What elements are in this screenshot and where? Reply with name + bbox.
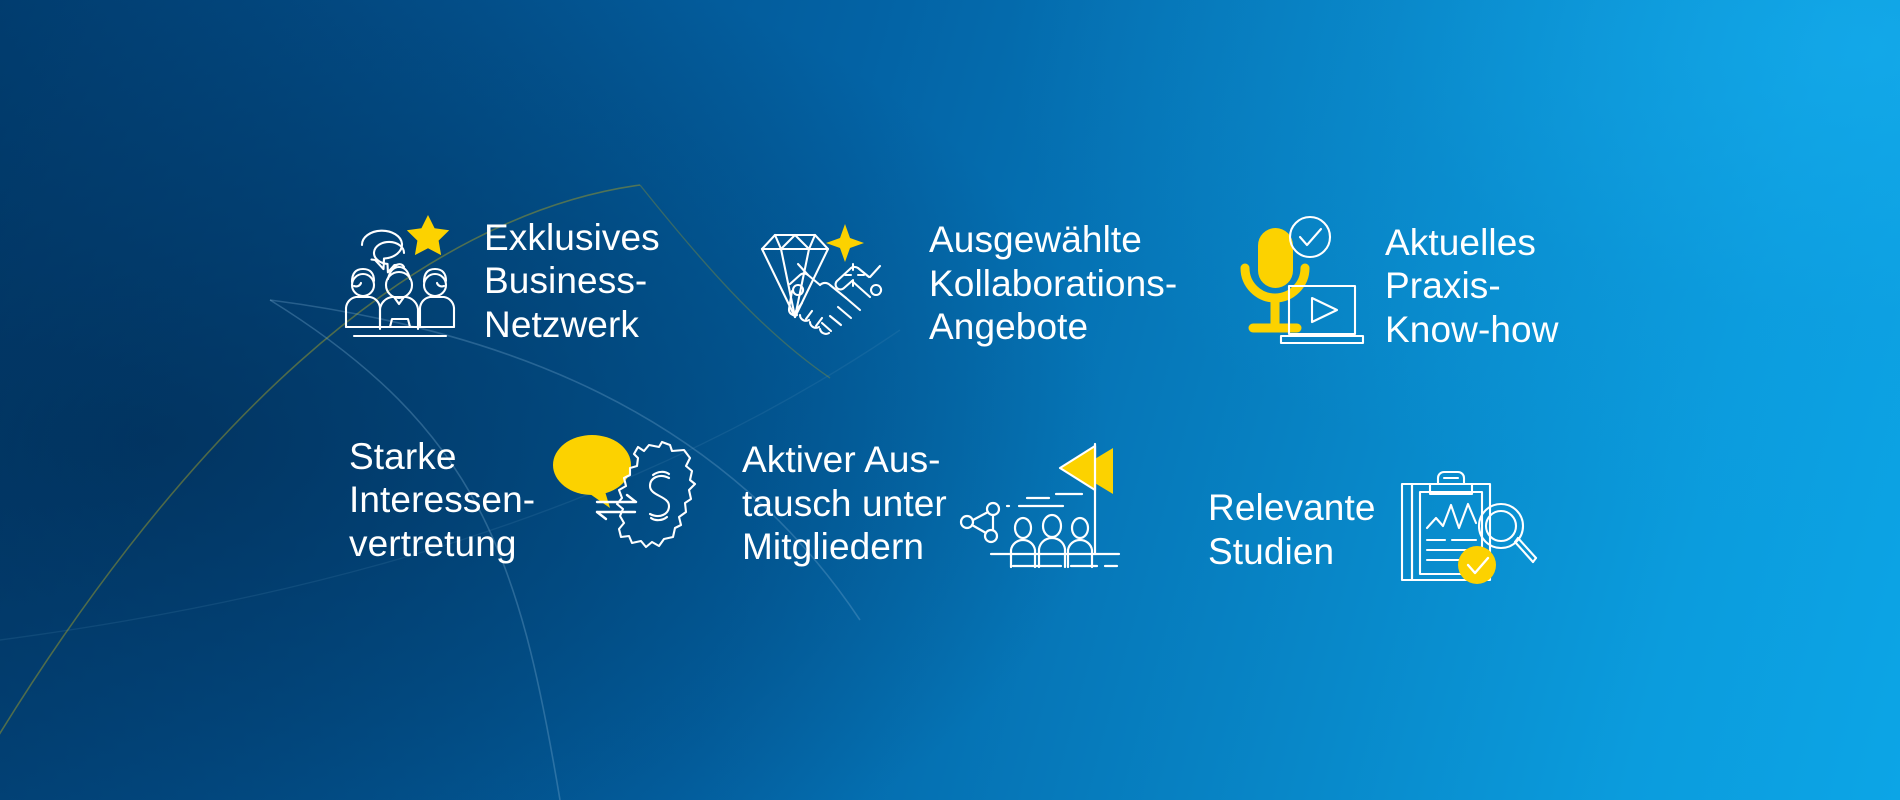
people-flag-network-icon xyxy=(961,436,1126,571)
people-meeting-star-icon xyxy=(340,215,460,347)
feature-exklusives-business-netzwerk[interactable]: Exklusives Business- Netzwerk xyxy=(340,215,660,347)
feature-ausgewaehlte-kollaborations-angebote[interactable]: Ausgewählte Kollaborations- Angebote xyxy=(752,218,1177,349)
diamond-handshake-icon xyxy=(752,219,907,347)
feature-starke-interessenvertretung[interactable]: Starke Interessen- vertretung xyxy=(349,430,709,570)
feature-relevante-studien[interactable]: Relevante Studien xyxy=(1208,470,1539,590)
feature-label: Aktuelles Praxis- Know-how xyxy=(1385,221,1559,352)
feature-label: Relevante Studien xyxy=(1208,486,1376,573)
clipboard-chart-magnifier-check-icon xyxy=(1394,470,1539,590)
feature-aktiver-austausch-unter-mitgliedern[interactable]: Aktiver Aus- tausch unter Mitgliedern xyxy=(742,436,1126,571)
microphone-laptop-play-icon xyxy=(1237,216,1365,356)
feature-label: Starke Interessen- vertretung xyxy=(349,435,535,566)
feature-label: Exklusives Business- Netzwerk xyxy=(484,216,660,347)
features-grid: Exklusives Business- Netzwerk xyxy=(0,0,1900,800)
feature-label: Aktiver Aus- tausch unter Mitgliedern xyxy=(742,438,947,569)
germany-map-paragraph-speech-icon xyxy=(549,430,709,570)
benefits-banner: Exklusives Business- Netzwerk xyxy=(0,0,1900,800)
feature-aktuelles-praxis-know-how[interactable]: Aktuelles Praxis- Know-how xyxy=(1237,216,1559,356)
feature-label: Ausgewählte Kollaborations- Angebote xyxy=(929,218,1177,349)
